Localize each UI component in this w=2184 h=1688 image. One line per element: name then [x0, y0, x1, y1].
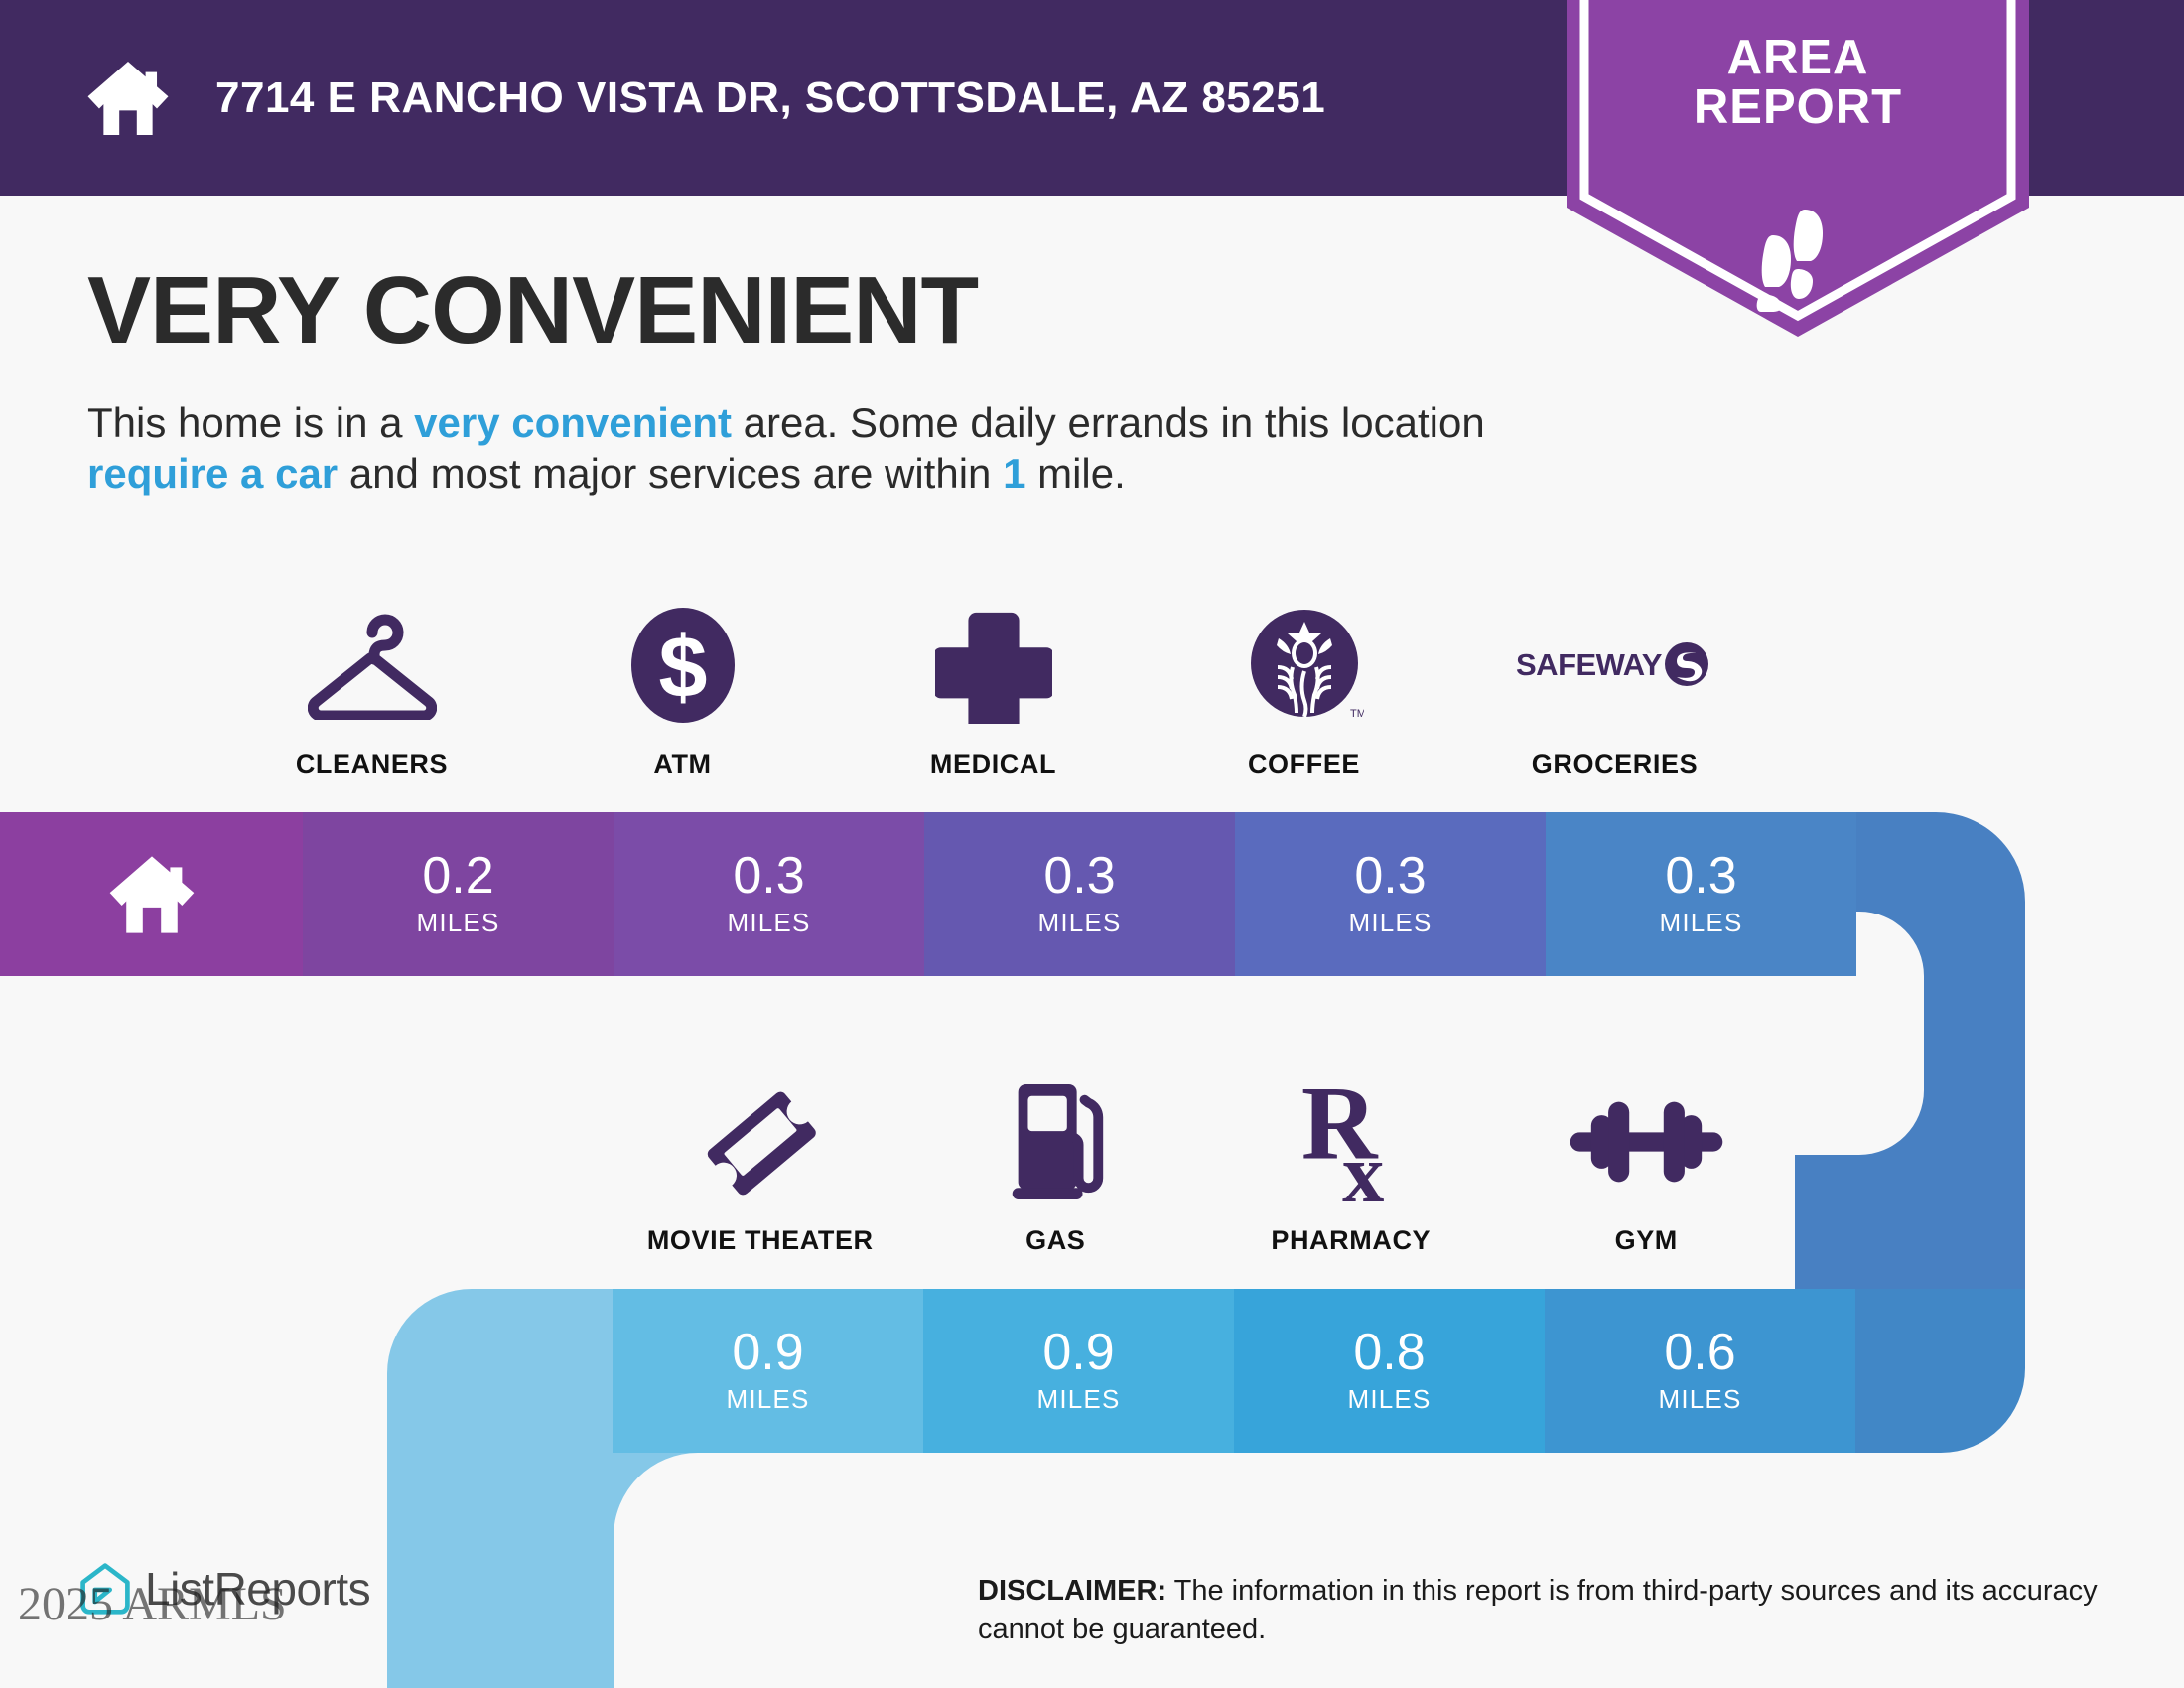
area-report-banner: AREA REPORT [1567, 0, 2029, 337]
gas-pump-icon [997, 1072, 1114, 1211]
home-icon [84, 55, 172, 142]
amenity-label: ATM [653, 749, 711, 779]
distance-cell-movie-theater: 0.9 MILES [613, 1289, 923, 1453]
page-title: VERY CONVENIENT [87, 263, 978, 358]
amenity-icon-row-2: MOVIE THEATER GAS R x PHARMACY [613, 1062, 1794, 1256]
svg-text:TM: TM [1350, 708, 1364, 720]
svg-text:x: x [1342, 1128, 1384, 1205]
medical-cross-icon [935, 596, 1052, 735]
header-inner: 7714 E RANCHO VISTA DR, SCOTTSDALE, AZ 8… [0, 0, 1549, 196]
amenity-medical: MEDICAL [838, 586, 1149, 779]
area-report-page: 7714 E RANCHO VISTA DR, SCOTTSDALE, AZ 8… [0, 0, 2184, 1688]
home-icon [106, 849, 198, 940]
clothes-hanger-icon [308, 596, 437, 735]
amenity-label: GROCERIES [1532, 749, 1698, 779]
distance-cell-coffee: 0.3 MILES [1235, 812, 1546, 976]
distance-value: 0.8 [1353, 1327, 1425, 1378]
amenity-label: MEDICAL [930, 749, 1056, 779]
distance-cell-medical: 0.3 MILES [924, 812, 1235, 976]
distance-value: 0.3 [1665, 850, 1736, 902]
distance-value: 0.3 [733, 850, 804, 902]
distance-value: 0.6 [1664, 1327, 1735, 1378]
mls-watermark: 2025 ARMLS [18, 1577, 287, 1631]
distance-unit: MILES [727, 908, 810, 938]
amenity-gym: GYM [1499, 1062, 1795, 1256]
amenity-movie-theater: MOVIE THEATER [613, 1062, 908, 1256]
amenity-label: MOVIE THEATER [647, 1225, 874, 1256]
starbucks-logo-icon: TM [1245, 596, 1364, 735]
footprints-icon [1743, 208, 1852, 312]
home-marker-cell [0, 812, 303, 976]
distance-bar-row-1: 0.2 MILES 0.3 MILES 0.3 MILES 0.3 MILES … [0, 812, 2025, 976]
amenity-groceries: SAFEWAY GROCERIES [1459, 586, 1770, 779]
distance-unit: MILES [1659, 908, 1742, 938]
distance-cell-pharmacy: 0.8 MILES [1234, 1289, 1545, 1453]
distance-cell-groceries: 0.3 MILES [1546, 812, 1856, 976]
amenity-label: GAS [1025, 1225, 1085, 1256]
disclaimer-text: DISCLAIMER: The information in this repo… [978, 1572, 2129, 1649]
dumbbell-icon [1570, 1072, 1723, 1211]
distance-value: 0.3 [1354, 850, 1426, 902]
distance-bar-row-2: 0.9 MILES 0.9 MILES 0.8 MILES 0.6 MILES [387, 1289, 2025, 1453]
amenity-label: CLEANERS [296, 749, 448, 779]
property-address: 7714 E RANCHO VISTA DR, SCOTTSDALE, AZ 8… [215, 73, 1325, 123]
distance-cell-gym: 0.6 MILES [1545, 1289, 1855, 1453]
amenity-label: COFFEE [1248, 749, 1360, 779]
distance-cell-cleaners: 0.2 MILES [303, 812, 614, 976]
distance-unit: MILES [1658, 1384, 1741, 1415]
distance-unit: MILES [416, 908, 499, 938]
distance-value: 0.2 [422, 850, 493, 902]
intro-text-2: area. Some daily errands in this locatio… [732, 399, 1485, 446]
distance-unit: MILES [1036, 1384, 1120, 1415]
dollar-coin-icon: $ [628, 596, 738, 735]
intro-text-3: and most major services are within [338, 450, 1003, 496]
amenity-icon-row-1: CLEANERS $ ATM MEDICAL [216, 586, 1795, 779]
amenity-atm: $ ATM [527, 586, 838, 779]
amenity-coffee: TM COFFEE [1149, 586, 1459, 779]
distance-unit: MILES [1347, 1384, 1431, 1415]
distance-cell-atm: 0.3 MILES [614, 812, 924, 976]
amenity-gas: GAS [908, 1062, 1204, 1256]
distance-unit: MILES [726, 1384, 809, 1415]
intro-text-4: mile. [1025, 450, 1125, 496]
intro-emphasis-2: require a car [87, 450, 338, 496]
amenity-cleaners: CLEANERS [216, 586, 527, 779]
distance-unit: MILES [1348, 908, 1432, 938]
ticket-icon [701, 1072, 820, 1211]
svg-text:$: $ [658, 618, 707, 716]
intro-emphasis-1: very convenient [414, 399, 732, 446]
distance-cell-gas: 0.9 MILES [923, 1289, 1234, 1453]
intro-paragraph: This home is in a very convenient area. … [87, 397, 1567, 498]
rx-icon: R x [1297, 1072, 1405, 1211]
intro-text-1: This home is in a [87, 399, 414, 446]
amenity-label: PHARMACY [1271, 1225, 1431, 1256]
svg-text:SAFEWAY: SAFEWAY [1516, 647, 1663, 682]
distance-value: 0.9 [732, 1327, 803, 1378]
disclaimer-label: DISCLAIMER: [978, 1575, 1166, 1607]
amenity-label: GYM [1615, 1225, 1678, 1256]
ribbon-head-cell [387, 1289, 613, 1453]
safeway-logo-icon: SAFEWAY [1516, 596, 1714, 735]
distance-value: 0.9 [1042, 1327, 1114, 1378]
amenity-pharmacy: R x PHARMACY [1203, 1062, 1499, 1256]
intro-emphasis-3: 1 [1003, 450, 1025, 496]
distance-value: 0.3 [1043, 850, 1115, 902]
distance-unit: MILES [1037, 908, 1121, 938]
